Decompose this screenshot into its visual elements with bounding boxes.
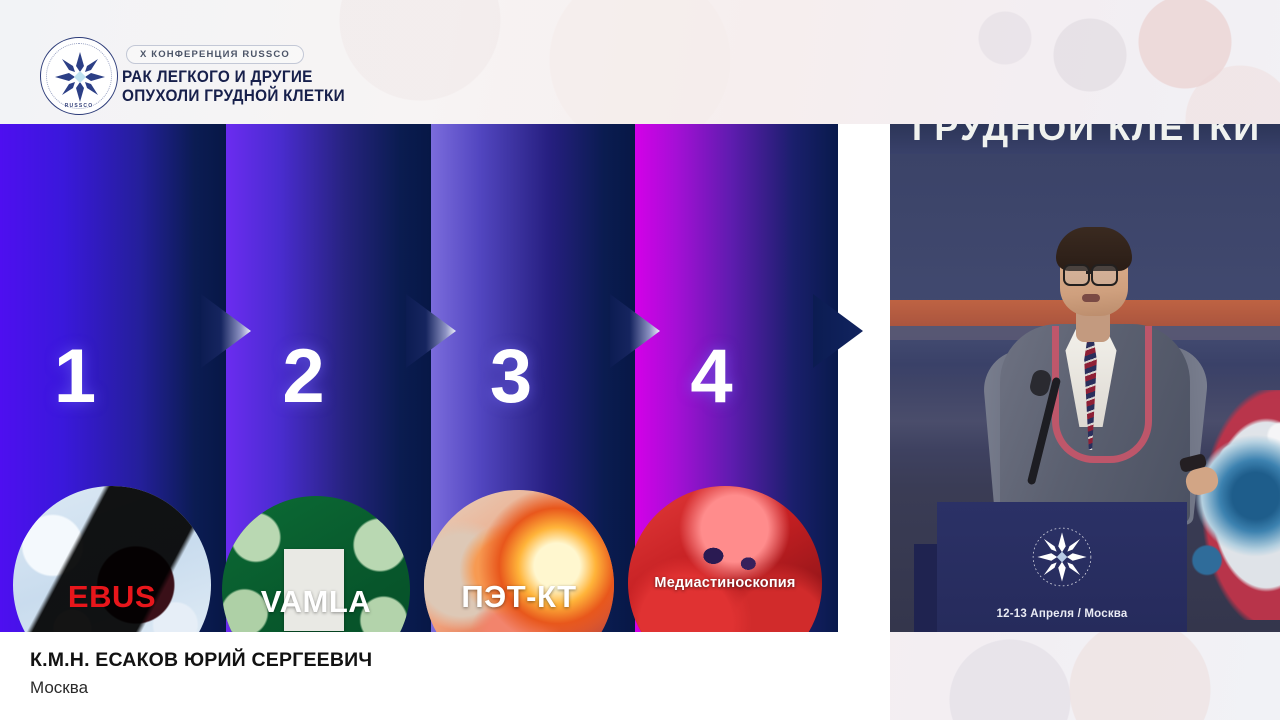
ebus-photo — [13, 486, 211, 632]
screenshot-root: RUSSCO X КОНФЕРЕНЦИЯ RUSSCO РАК ЛЕГКОГО … — [0, 0, 1280, 720]
speaker-name: К.М.Н. ЕСАКОВ ЮРИЙ СЕРГЕЕВИЧ — [30, 649, 372, 672]
step-image-1: EBUS — [13, 486, 211, 632]
podium-emblem-icon — [1031, 526, 1093, 588]
conference-title: РАК ЛЕГКОГО И ДРУГИЕ ОПУХОЛИ ГРУДНОЙ КЛЕ… — [122, 68, 345, 105]
eyeglasses-left-lens — [1063, 264, 1090, 286]
eyeglasses-right-lens — [1091, 264, 1118, 286]
arrow-right-icon-1 — [201, 294, 251, 368]
speaker-caption: К.М.Н. ЕСАКОВ ЮРИЙ СЕРГЕЕВИЧ Москва — [0, 632, 890, 720]
arrow-right-icon-2 — [406, 294, 456, 368]
logo-star-icon — [51, 48, 109, 106]
slide-area: 1 2 3 4 EBUS VAMLA ПЭТ-КТ Медиастин — [0, 124, 890, 632]
speaker-video-panel[interactable]: ГРУДНОЙ КЛЕТКИ — [890, 124, 1280, 632]
stage-banner-text: ГРУДНОЙ КЛЕТКИ — [912, 124, 1261, 149]
step-image-2: VAMLA — [222, 496, 410, 632]
podium-side — [914, 544, 938, 632]
stage-banner: ГРУДНОЙ КЛЕТКИ — [890, 124, 1280, 154]
step-image-4: Медиастиноскопия — [628, 486, 822, 632]
lanyard — [1052, 326, 1152, 463]
arrow-right-icon-3 — [610, 294, 660, 368]
step-number-1: 1 — [0, 339, 188, 415]
russco-logo-icon: RUSSCO — [40, 37, 118, 115]
speaker-city: Москва — [30, 678, 88, 698]
podium-date-text: 12-13 Апреля / Москва — [937, 608, 1187, 620]
conference-badge: X КОНФЕРЕНЦИЯ RUSSCO — [126, 45, 304, 64]
vamla-photo — [222, 496, 410, 632]
podium: 12-13 Апреля / Москва — [937, 502, 1187, 632]
step-image-3: ПЭТ-КТ — [424, 490, 614, 632]
pet-ct-photo — [424, 490, 614, 632]
conference-title-line1: РАК ЛЕГКОГО И ДРУГИЕ — [122, 68, 345, 87]
arrow-right-icon-4 — [813, 294, 863, 368]
mediastinoscopy-photo — [628, 486, 822, 632]
conference-title-line2: ОПУХОЛИ ГРУДНОЙ КЛЕТКИ — [122, 87, 345, 106]
conference-header: RUSSCO X КОНФЕРЕНЦИЯ RUSSCO РАК ЛЕГКОГО … — [0, 0, 1280, 124]
logo-wordmark: RUSSCO — [41, 103, 117, 109]
